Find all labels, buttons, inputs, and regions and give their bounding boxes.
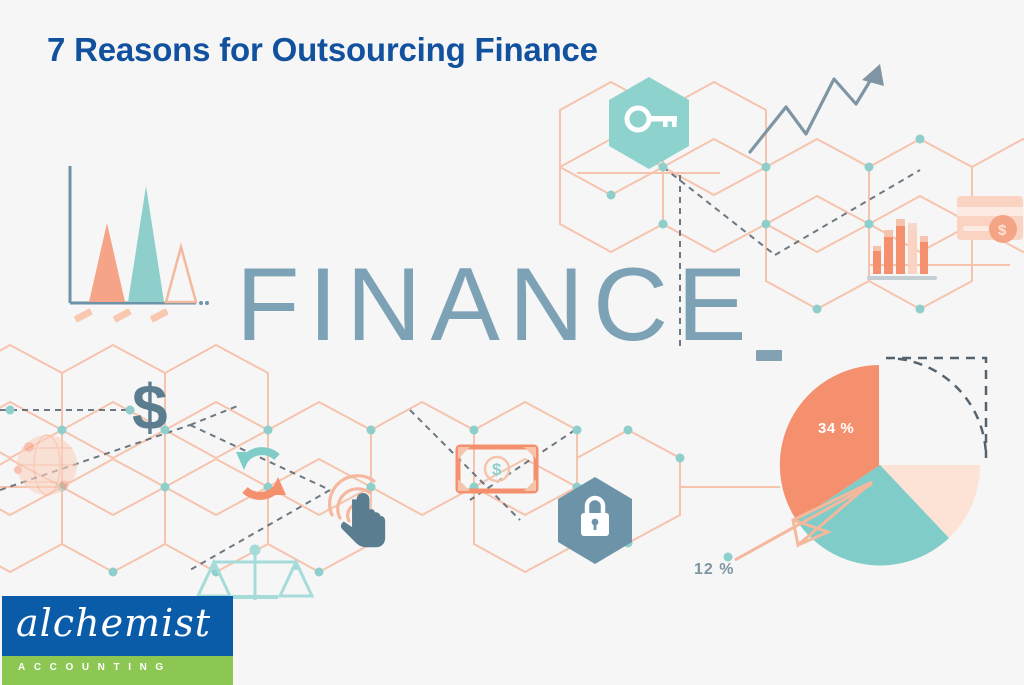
svg-text:$: $ bbox=[998, 222, 1007, 239]
poster-canvas: $ bbox=[0, 0, 1024, 685]
credit-card-icon: $ bbox=[957, 196, 1023, 243]
triangle-bar-chart bbox=[70, 166, 209, 323]
page-title: 7 Reasons for Outsourcing Finance bbox=[47, 31, 598, 69]
logo-brand-text: alchemist bbox=[16, 601, 211, 645]
svg-text:$: $ bbox=[132, 371, 168, 443]
lock-icon bbox=[558, 477, 632, 564]
banknote-icon: $ bbox=[458, 447, 536, 491]
triangle-bar-3 bbox=[166, 247, 196, 302]
pie-label-12: 12 % bbox=[694, 561, 734, 579]
dashed-connector-lines bbox=[0, 167, 920, 570]
click-pointer-icon bbox=[330, 476, 386, 548]
brand-logo[interactable]: alchemist ACCOUNTING bbox=[2, 596, 233, 685]
logo-tagline-text: ACCOUNTING bbox=[18, 662, 172, 673]
pie-label-34: 34 % bbox=[818, 420, 854, 437]
dollar-sign-icon: $ bbox=[132, 371, 168, 443]
triangle-bar-2 bbox=[128, 186, 164, 302]
pie-slice-dashed bbox=[886, 358, 986, 458]
key-icon bbox=[609, 77, 689, 169]
svg-text:$: $ bbox=[492, 460, 502, 479]
hero-word-finance: FINANCE bbox=[236, 253, 755, 357]
triangle-bar-1 bbox=[89, 223, 125, 302]
legend-swatch bbox=[756, 350, 782, 361]
